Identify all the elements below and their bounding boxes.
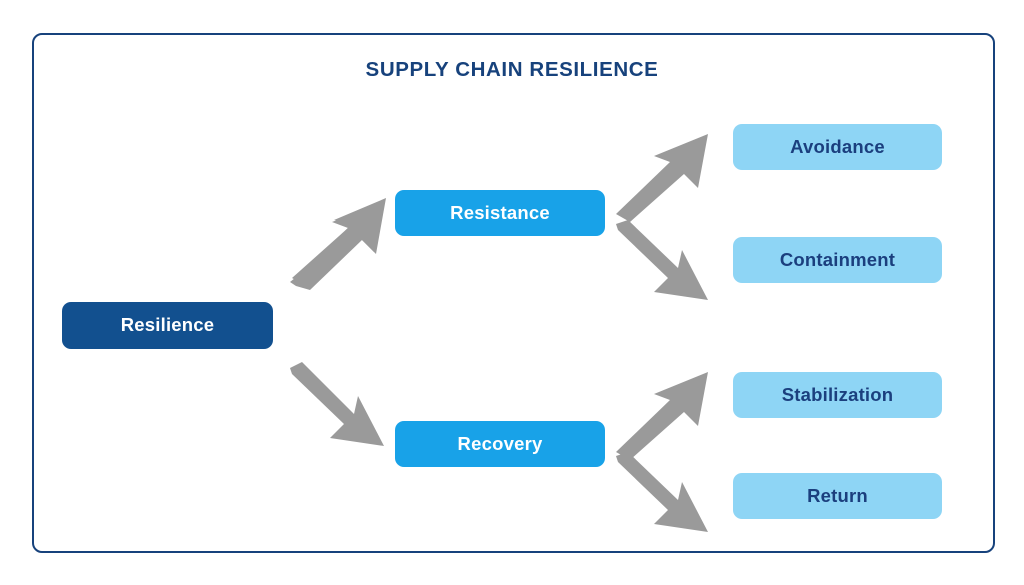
page-title: SUPPLY CHAIN RESILIENCE	[0, 58, 1024, 82]
node-containment[interactable]: Containment	[733, 237, 942, 283]
node-resilience-label: Resilience	[121, 316, 215, 335]
node-stabilization[interactable]: Stabilization	[733, 372, 942, 418]
node-avoidance[interactable]: Avoidance	[733, 124, 942, 170]
node-resistance[interactable]: Resistance	[395, 190, 605, 236]
node-recovery-label: Recovery	[458, 435, 543, 454]
node-containment-label: Containment	[780, 251, 895, 270]
node-resilience[interactable]: Resilience	[62, 302, 273, 349]
node-recovery[interactable]: Recovery	[395, 421, 605, 467]
node-stabilization-label: Stabilization	[782, 386, 894, 405]
diagram-canvas: SUPPLY CHAIN RESILIENCE	[0, 0, 1024, 585]
node-return-label: Return	[807, 487, 868, 506]
node-resistance-label: Resistance	[450, 204, 550, 223]
node-avoidance-label: Avoidance	[790, 138, 885, 157]
node-return[interactable]: Return	[733, 473, 942, 519]
